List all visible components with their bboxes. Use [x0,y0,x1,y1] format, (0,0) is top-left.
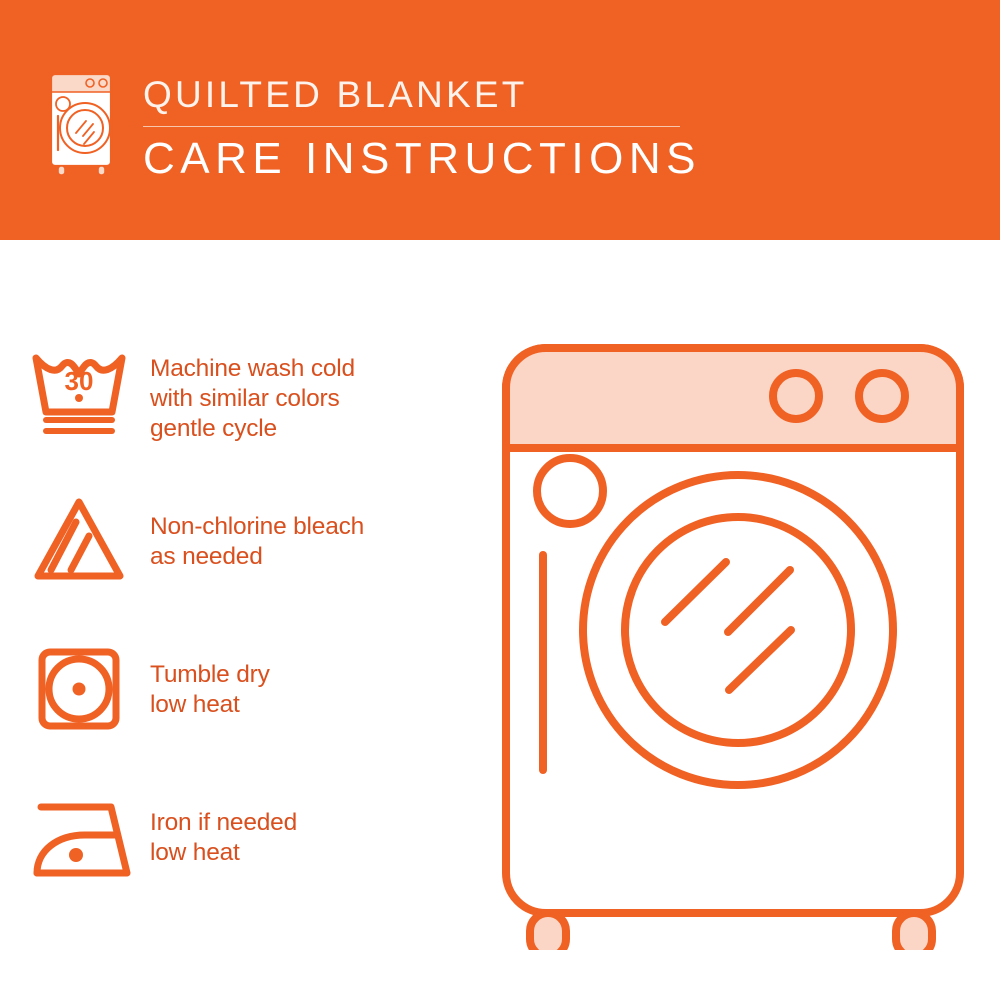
list-item: 30 Machine wash cold with similar colors… [0,330,480,480]
care-line: low heat [150,690,270,720]
care-instruction-list: 30 Machine wash cold with similar colors… [0,330,480,930]
wash-temperature-label: 30 [65,366,94,396]
leg-right [896,913,932,950]
list-item: Tumble dry low heat [0,630,480,780]
non-chlorine-bleach-triangle-icon [0,480,150,600]
care-text-iron: Iron if needed low heat [150,780,297,868]
care-text-bleach: Non-chlorine bleach as needed [150,480,364,572]
care-line: Tumble dry [150,660,270,690]
page-title-product: QUILTED BLANKET [143,72,703,118]
care-line: Non-chlorine bleach [150,512,364,542]
title-divider [143,126,680,127]
header-banner: QUILTED BLANKET CARE INSTRUCTIONS [0,0,1000,240]
list-item: Non-chlorine bleach as needed [0,480,480,630]
leg-left [530,913,566,950]
list-item: Iron if needed low heat [0,780,480,930]
care-line: as needed [150,542,364,572]
tumble-dry-square-icon [0,630,150,750]
washing-machine-icon [44,68,122,178]
machine-wash-tub-icon: 30 [0,330,150,450]
care-text-dry: Tumble dry low heat [150,630,270,720]
iron-icon [0,780,150,900]
control-panel [506,348,960,448]
care-line: Iron if needed [150,808,297,838]
care-line: with similar colors [150,384,355,414]
care-line: low heat [150,838,297,868]
care-line: Machine wash cold [150,354,355,384]
header-title-block: QUILTED BLANKET CARE INSTRUCTIONS [143,72,703,187]
care-instructions-page: QUILTED BLANKET CARE INSTRUCTIONS 30 Mac… [0,0,1000,1000]
care-text-wash: Machine wash cold with similar colors ge… [150,330,355,444]
care-line: gentle cycle [150,414,355,444]
washing-machine-illustration [488,330,978,950]
page-title-main: CARE INSTRUCTIONS [143,131,703,187]
